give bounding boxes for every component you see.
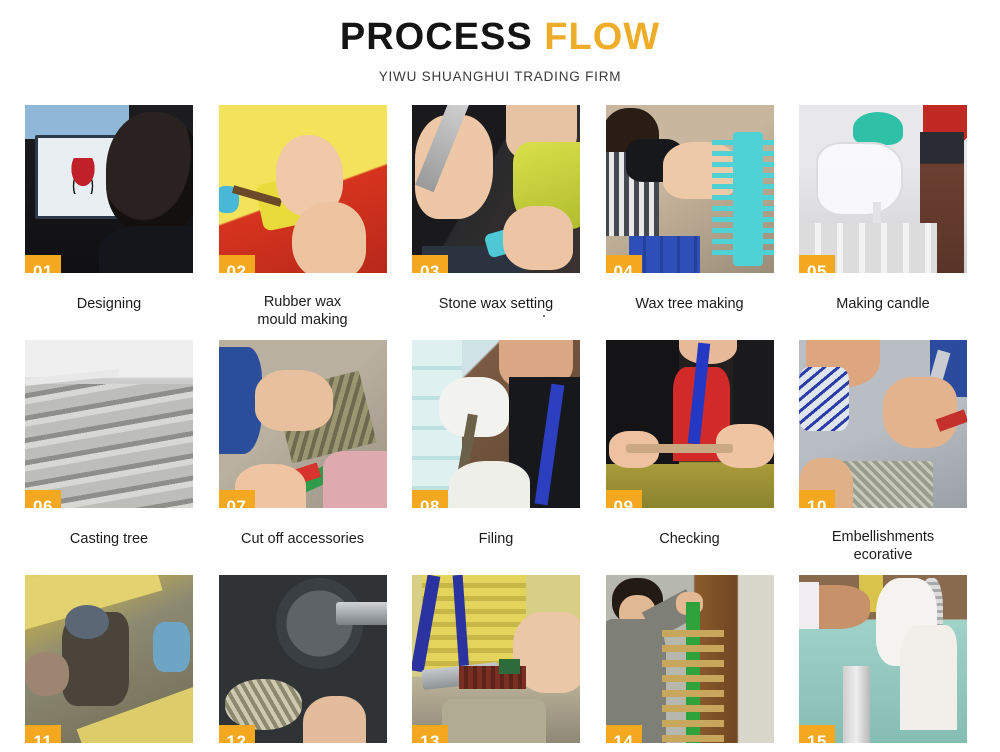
photo-detail [626,444,734,452]
process-step-card-03[interactable]: 03 Stone wax setting [412,105,580,329]
step-photo: 03 [412,105,580,273]
photo-detail [449,461,530,508]
process-step-card-13[interactable]: 13 Main stone setting [412,575,580,752]
process-step-card-09[interactable]: 09 Checking [606,340,774,564]
step-number-badge: 09 [606,490,642,508]
photo-detail [799,367,849,431]
step-photo-scene [219,575,387,743]
step-photo-scene [799,105,967,273]
step-number-badge: 11 [25,725,61,743]
photo-detail [225,679,302,729]
photo-detail [839,461,933,508]
process-step-card-04[interactable]: 04 Wax tree making [606,105,774,329]
step-number-badge: 08 [412,490,448,508]
process-step-card-14[interactable]: 14 Plating [606,575,774,752]
step-label: Embellishments ecorative [799,528,967,564]
process-step-card-12[interactable]: 12 Polishing [219,575,387,752]
step-photo: 02 [219,105,387,273]
page-header: PROCESS FLOW YIWU SHUANGHUI TRADING FIRM [0,0,1000,85]
step-photo-scene [606,340,774,508]
step-photo: 07 [219,340,387,508]
title-process: PROCESS [340,16,544,58]
process-step-card-05[interactable]: 05 Making candle [799,105,967,329]
step-photo-scene [799,340,967,508]
photo-detail [503,206,574,270]
step-photo-scene [25,575,193,743]
photo-detail [255,370,332,430]
photo-detail [686,602,699,743]
step-photo-scene [606,575,774,743]
photo-detail [303,696,367,743]
step-photo: 09 [606,340,774,508]
photo-detail [799,582,819,629]
step-photo-scene [799,575,967,743]
photo-detail [292,202,366,273]
process-step-card-11[interactable]: 11 Detail polishing [25,575,193,752]
process-step-card-02[interactable]: 02 Rubber wax mould making [219,105,387,329]
step-number-badge: 10 [799,490,835,508]
step-label: Cut off accessories [219,530,387,548]
step-number-badge: 15 [799,725,835,743]
step-label: Wax tree making [606,295,774,313]
step-label: Making candle [799,295,967,313]
step-label: Designing [25,295,193,313]
step-label: Rubber wax mould making [219,293,387,329]
step-photo: 12 [219,575,387,743]
step-photo-scene [412,340,580,508]
step-photo: 06 [25,340,193,508]
process-flow-page: PROCESS FLOW YIWU SHUANGHUI TRADING FIRM… [0,0,1000,752]
step-photo-scene [25,105,193,273]
step-photo: 01 [25,105,193,273]
process-step-grid: 01 Designing 02 Rubber wax mould making … [25,105,975,752]
step-number-badge: 04 [606,255,642,273]
photo-detail [336,602,386,626]
step-photo-scene [25,340,193,508]
photo-detail [843,666,870,743]
image-artifact-dot [543,315,545,317]
step-photo: 13 [412,575,580,743]
step-photo: 05 [799,105,967,273]
photo-detail [900,625,957,729]
process-step-card-08[interactable]: 08 Filing [412,340,580,564]
step-photo-scene [219,340,387,508]
process-step-card-06[interactable]: 06 Casting tree [25,340,193,564]
step-photo: 04 [606,105,774,273]
photo-detail [323,451,387,508]
step-number-badge: 02 [219,255,255,273]
page-subtitle: YIWU SHUANGHUI TRADING FIRM [0,69,1000,85]
step-photo: 14 [606,575,774,743]
photo-detail [106,112,193,233]
photo-detail [25,652,69,696]
step-photo: 08 [412,340,580,508]
process-step-card-07[interactable]: 07 Cut off accessories [219,340,387,564]
step-number-badge: 13 [412,725,448,743]
step-number-badge: 01 [25,255,61,273]
step-number-badge: 07 [219,490,255,508]
step-label: Filing [412,530,580,548]
step-label: Stone wax setting [412,295,580,313]
photo-detail [65,605,109,639]
photo-detail [99,226,193,273]
step-photo-scene [412,575,580,743]
step-photo: 11 [25,575,193,743]
step-photo: 10 [799,340,967,508]
photo-detail [442,699,546,743]
photo-detail [883,377,957,448]
step-number-badge: 12 [219,725,255,743]
step-label: Checking [606,530,774,548]
photo-detail [153,622,190,672]
step-photo-scene [412,105,580,273]
photo-detail [499,659,519,674]
process-step-card-15[interactable]: 15 Quality checking [799,575,967,752]
title-flow: FLOW [544,16,660,58]
photo-detail [25,105,129,139]
step-number-badge: 14 [606,725,642,743]
photo-detail [816,142,903,216]
step-number-badge: 05 [799,255,835,273]
step-photo: 15 [799,575,967,743]
process-step-card-01[interactable]: 01 Designing [25,105,193,329]
step-number-badge: 03 [412,255,448,273]
photo-detail [733,132,763,266]
process-step-card-10[interactable]: 10 Embellishments ecorative [799,340,967,564]
page-title: PROCESS FLOW [0,14,1000,60]
step-photo-scene [219,105,387,273]
step-label: Casting tree [25,530,193,548]
step-photo-scene [606,105,774,273]
step-number-badge: 06 [25,490,61,508]
photo-detail [853,112,903,146]
